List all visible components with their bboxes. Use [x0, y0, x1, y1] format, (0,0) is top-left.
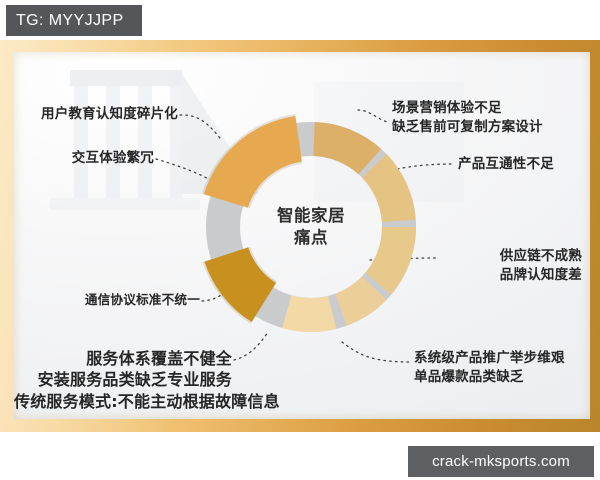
- callout-right-top: 场景营销体验不足 缺乏售前可复制方案设计: [392, 100, 543, 137]
- infographic-card: 智能家居 痛点 用户教育认知度碎片化 交互体验繁冗 通信协议标准不统一 服务体系…: [14, 52, 590, 419]
- callout-left-bottom-line1: 服务体系覆盖不健全: [14, 349, 232, 369]
- callout-left-top: 用户教育认知度碎片化: [14, 106, 178, 123]
- site-watermark-badge: crack-mksports.com: [408, 446, 594, 477]
- gold-frame: 智能家居 痛点 用户教育认知度碎片化 交互体验繁冗 通信协议标准不统一 服务体系…: [0, 40, 600, 432]
- donut-chart-svg: [196, 112, 426, 342]
- callout-left-low: 通信协议标准不统一: [14, 292, 200, 308]
- site-watermark-text: crack-mksports.com: [432, 453, 570, 470]
- callout-right-bottom-line2: 单品爆款品类缺乏: [414, 369, 565, 386]
- callout-right-bottom-line1: 系统级产品推广举步维艰: [414, 350, 565, 367]
- telegram-watermark-text: TG: MYYJJPP: [16, 12, 124, 30]
- callout-right-top-line2: 缺乏售前可复制方案设计: [392, 119, 543, 136]
- callout-left-bottom-line2: 安装服务品类缺乏专业服务: [14, 370, 232, 390]
- donut-segment[interactable]: [282, 295, 336, 332]
- callout-left-top-line1: 用户教育认知度碎片化: [14, 106, 178, 123]
- background-watermark-block-5: [170, 86, 182, 198]
- callout-left-bottom: 服务体系覆盖不健全 安装服务品类缺乏专业服务 传统服务模式:不能主动根据故障信息: [14, 349, 232, 412]
- callout-left-bottom-line3: 传统服务模式:不能主动根据故障信息: [14, 392, 232, 412]
- infographic-canvas: TG: MYYJJPP: [0, 0, 600, 480]
- background-watermark-block-3: [106, 86, 120, 198]
- callout-right-bottom: 系统级产品推广举步维艰 单品爆款品类缺乏: [414, 350, 565, 387]
- callout-left-mid-line1: 交互体验繁冗: [14, 150, 154, 167]
- background-watermark-block-2: [74, 86, 88, 198]
- callout-right-upper-line1: 产品互通性不足: [458, 156, 554, 173]
- background-watermark-block-1: [70, 70, 182, 86]
- background-watermark-band: [50, 198, 200, 210]
- callout-left-mid: 交互体验繁冗: [14, 150, 154, 167]
- callout-right-mid-line2: 品牌认知度差: [442, 267, 582, 284]
- callout-right-mid: 供应链不成熟 品牌认知度差: [442, 248, 582, 285]
- callout-left-low-line1: 通信协议标准不统一: [14, 292, 200, 308]
- callout-right-top-line1: 场景营销体验不足: [392, 100, 543, 117]
- callout-right-mid-line1: 供应链不成熟: [442, 248, 582, 265]
- leader-right-bottom: [342, 342, 410, 362]
- callout-right-upper: 产品互通性不足: [458, 156, 554, 173]
- donut-chart: 智能家居 痛点: [196, 112, 426, 342]
- background-watermark-block-4: [138, 86, 152, 198]
- telegram-watermark-badge: TG: MYYJJPP: [6, 5, 142, 36]
